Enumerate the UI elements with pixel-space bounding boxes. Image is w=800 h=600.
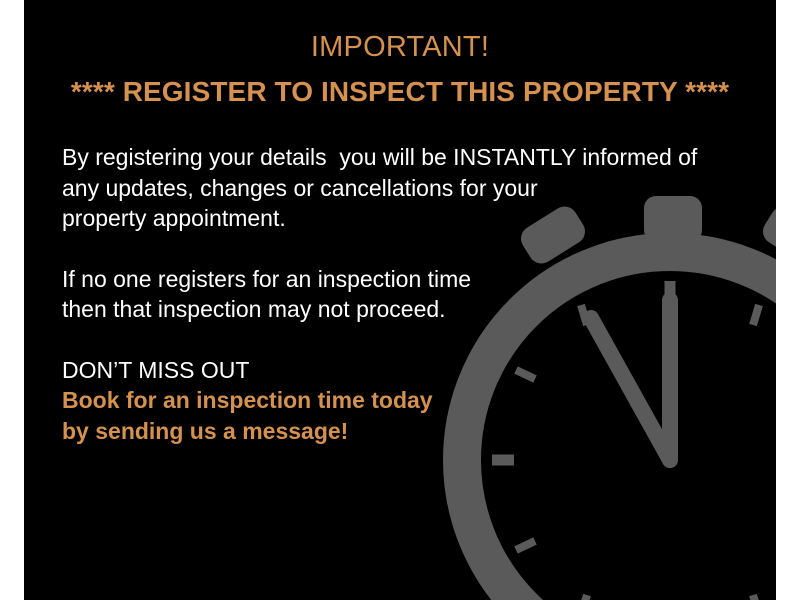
paragraph1-line2: any updates, changes or cancellations fo… (62, 173, 752, 204)
slide-panel: IMPORTANT! **** REGISTER TO INSPECT THIS… (24, 0, 776, 600)
paragraph1-line3: property appointment. (62, 203, 752, 234)
body-block: By registering your details you will be … (62, 142, 752, 446)
headline-block: IMPORTANT! **** REGISTER TO INSPECT THIS… (24, 28, 776, 112)
paragraph-no-registration: If no one registers for an inspection ti… (62, 264, 752, 325)
paragraph2-line2: then that inspection may not proceed. (62, 294, 752, 325)
cta-book-inspection: Book for an inspection time today (62, 385, 752, 416)
paragraph-registering: By registering your details you will be … (62, 142, 752, 234)
text-layer: IMPORTANT! **** REGISTER TO INSPECT THIS… (24, 0, 776, 600)
poster-canvas: IMPORTANT! **** REGISTER TO INSPECT THIS… (0, 0, 800, 600)
headline-register: **** REGISTER TO INSPECT THIS PROPERTY *… (24, 72, 776, 112)
paragraph-call-to-action: DON’T MISS OUT Book for an inspection ti… (62, 355, 752, 447)
cta-send-message: by sending us a message! (62, 416, 752, 447)
paragraph1-line1: By registering your details you will be … (62, 142, 752, 173)
cta-dont-miss-out: DON’T MISS OUT (62, 355, 752, 386)
headline-important: IMPORTANT! (24, 28, 776, 66)
paragraph2-line1: If no one registers for an inspection ti… (62, 264, 752, 295)
